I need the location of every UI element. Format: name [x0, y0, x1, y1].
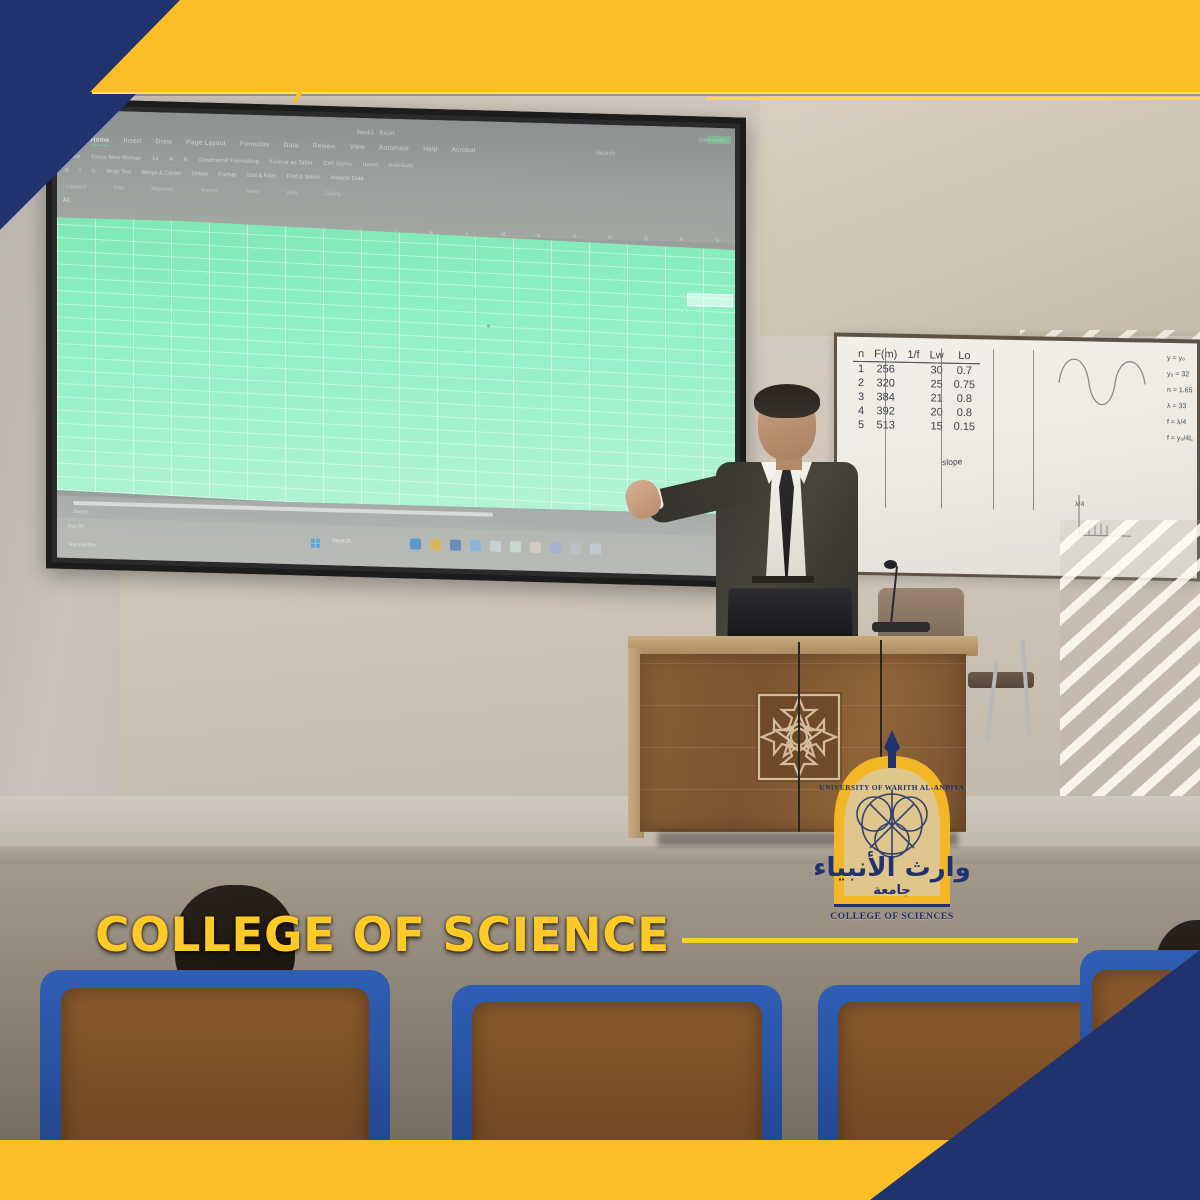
settings-icon[interactable]	[570, 543, 581, 554]
excel-ribbon-tabs[interactable]: File Home Insert Draw Page Layout Formul…	[65, 136, 488, 155]
excel-icon[interactable]	[510, 541, 521, 552]
excel-share-button[interactable]	[707, 136, 731, 145]
top-yellow-band	[0, 0, 1200, 92]
microphone-base	[872, 622, 930, 632]
eq-line: n = 1.65	[1167, 383, 1193, 400]
sort-filter-button[interactable]: Sort & Filter	[247, 173, 277, 180]
th-invf: 1/f	[902, 348, 924, 363]
col-header[interactable]: R	[664, 234, 700, 245]
eq-line: f = λ/4	[1167, 415, 1193, 432]
word-icon[interactable]	[490, 541, 501, 552]
logo-caption: COLLEGE OF SCIENCES	[812, 912, 972, 922]
logo-arabic-line2: جامعة	[873, 883, 911, 898]
upper-right-wall	[760, 96, 1200, 336]
tab-data[interactable]: Data	[284, 142, 299, 149]
cell-styles-button[interactable]: Cell Styles	[324, 161, 353, 168]
tab-help[interactable]: Help	[423, 146, 438, 153]
excel-search-box[interactable]: Search	[596, 151, 615, 158]
cell-lw: 20	[925, 405, 949, 419]
italic-button[interactable]: I	[79, 168, 81, 174]
find-select-button[interactable]: Find & Select	[287, 174, 320, 181]
eq-line: y = y₀	[1167, 351, 1193, 368]
cell-lw: 15	[925, 419, 949, 433]
autosum-button[interactable]: AutoSum	[389, 163, 413, 170]
col-header[interactable]: S	[699, 235, 735, 246]
tab-page-layout[interactable]: Page Layout	[186, 139, 226, 147]
th-n: n	[853, 347, 869, 362]
group-number: Number	[201, 188, 219, 194]
table-divider	[941, 349, 942, 509]
cell-lo: 0.8	[949, 392, 980, 407]
whiteboard-equations: y = y₀ y₀ = 32 n = 1.65 λ = 33 f = λ/4 f…	[1167, 351, 1193, 448]
conditional-formatting-button[interactable]: Conditional Formatting	[198, 157, 259, 165]
desktop-icon-this-pc[interactable]: This PC	[67, 524, 85, 530]
eq-line: y₀ = 32	[1167, 367, 1193, 384]
excel-worksheet[interactable]: S R Q P O N M L K J I H G F E	[57, 218, 735, 515]
logo-arabic-line1: وارث الأنبياء	[813, 851, 971, 883]
col-header[interactable]: P	[592, 232, 628, 243]
mail-icon[interactable]	[590, 543, 601, 554]
start-icon[interactable]	[311, 539, 320, 548]
wrap-text-button[interactable]: Wrap Text	[106, 169, 131, 176]
cell-lo: 0.8	[949, 406, 980, 421]
analyze-data-button[interactable]: Analyze Data	[330, 175, 363, 182]
group-font: Font	[114, 185, 124, 191]
cell-invf	[902, 405, 924, 419]
bold-button[interactable]: B	[65, 168, 69, 174]
group-clipboard: Clipboard	[65, 184, 86, 191]
taskbar-app-icons[interactable]	[410, 538, 601, 554]
edge-icon[interactable]	[410, 538, 421, 549]
top-right-rule	[706, 97, 1200, 100]
cell-invf	[902, 391, 924, 405]
font-name-select[interactable]: Times New Roman	[91, 154, 141, 161]
power-cable	[798, 642, 800, 832]
group-styles: Styles	[246, 189, 260, 195]
powerpoint-icon[interactable]	[530, 542, 541, 553]
presenter-laptop-screen	[727, 588, 852, 640]
cell-lw: 21	[925, 391, 949, 405]
presenter-belt	[752, 576, 814, 583]
cell-lw: 30	[925, 363, 949, 378]
tab-automate[interactable]: Automate	[379, 145, 409, 153]
table-divider	[885, 347, 886, 507]
poster-canvas: AutoSave Book1 · Excel Search Comments F…	[0, 0, 1200, 1200]
tab-draw[interactable]: Draw	[156, 138, 172, 145]
sheet-tab[interactable]: Sheet1	[73, 509, 89, 515]
insert-cells-button[interactable]: Insert	[363, 162, 378, 168]
tab-view[interactable]: View	[350, 144, 365, 151]
tab-formulas[interactable]: Formulas	[240, 141, 270, 149]
whiteboard-data-table: n F(m) 1/f Lw Lo 1 256 30	[853, 347, 1049, 436]
cell-lo: 0.15	[949, 420, 980, 435]
desktop-icon-recycle-bin[interactable]: Recycle Bin	[69, 542, 95, 549]
teams-icon[interactable]	[550, 542, 561, 553]
table-divider	[993, 350, 994, 510]
eq-line: f = y₀/4L	[1167, 431, 1193, 448]
tab-home[interactable]: Home	[91, 136, 110, 146]
whiteboard-slope-note: slope	[942, 456, 963, 467]
cell-lo: 0.7	[949, 363, 980, 378]
desk-top	[628, 636, 978, 656]
cell-invf	[902, 362, 924, 377]
excel-ribbon-row-font[interactable]: Paste Times New Roman 14 A A Conditional…	[65, 154, 422, 170]
cell-invf	[902, 377, 924, 391]
excel-name-box[interactable]: A1	[63, 198, 70, 204]
page-title: COLLEGE OF SCIENCE	[95, 908, 670, 963]
excel-title-bar: Book1 · Excel	[357, 130, 394, 137]
delete-cells-button[interactable]: Delete	[192, 171, 208, 177]
logo-outer-text: UNIVERSITY OF WARITH AL-ANBIYA	[819, 783, 964, 792]
taskbar-search-box[interactable]: Search	[332, 538, 351, 545]
chrome-icon[interactable]	[470, 540, 481, 551]
cell-invf	[902, 419, 924, 433]
tab-insert[interactable]: Insert	[123, 137, 141, 145]
underline-button[interactable]: U	[91, 168, 95, 174]
excel-group-labels: Clipboard Font Alignment Number Styles C…	[65, 184, 367, 198]
tab-review[interactable]: Review	[313, 143, 336, 151]
excel-cell-grid[interactable]	[57, 218, 735, 515]
presenter-hair	[754, 384, 820, 418]
table-divider	[1033, 350, 1034, 510]
mouse-cursor	[487, 325, 490, 328]
merge-center-button[interactable]: Merge & Center	[142, 170, 181, 177]
explorer-icon[interactable]	[430, 539, 441, 550]
group-alignment: Alignment	[151, 186, 173, 193]
stage-edge	[0, 846, 1200, 864]
headline-rule	[682, 938, 1078, 943]
format-as-table-button[interactable]: Format as Table	[270, 159, 313, 166]
th-lo: Lo	[949, 349, 980, 364]
group-editing: Editing	[325, 191, 340, 197]
cell-n: 1	[853, 361, 869, 376]
top-band-underline	[0, 92, 1200, 94]
decrease-font-button[interactable]: A	[184, 157, 188, 163]
excel-selected-cell[interactable]	[687, 293, 733, 307]
university-logo: UNIVERSITY OF WARITH AL-ANBIYA وارث الأن…	[812, 728, 972, 924]
tab-acrobat[interactable]: Acrobat	[452, 147, 477, 155]
cell-lw: 25	[925, 377, 949, 391]
eq-line: λ = 33	[1167, 399, 1193, 416]
th-lw: Lw	[925, 348, 949, 363]
classroom-photo: AutoSave Book1 · Excel Search Comments F…	[0, 0, 1200, 1200]
cell-lo: 0.75	[949, 378, 980, 393]
excel-ribbon-row-align[interactable]: B I U Wrap Text Merge & Center Delete Fo…	[65, 168, 373, 183]
whiteboard-wave-sketch	[1055, 349, 1160, 413]
font-size-select[interactable]: 14	[152, 156, 159, 162]
group-cells: Cells	[287, 190, 298, 196]
store-icon[interactable]	[450, 540, 461, 551]
increase-font-button[interactable]: A	[169, 157, 173, 163]
col-header[interactable]: Q	[628, 233, 664, 244]
format-cells-button[interactable]: Format	[218, 172, 236, 178]
university-seal-icon: UNIVERSITY OF WARITH AL-ANBIYA وارث الأن…	[812, 728, 972, 924]
